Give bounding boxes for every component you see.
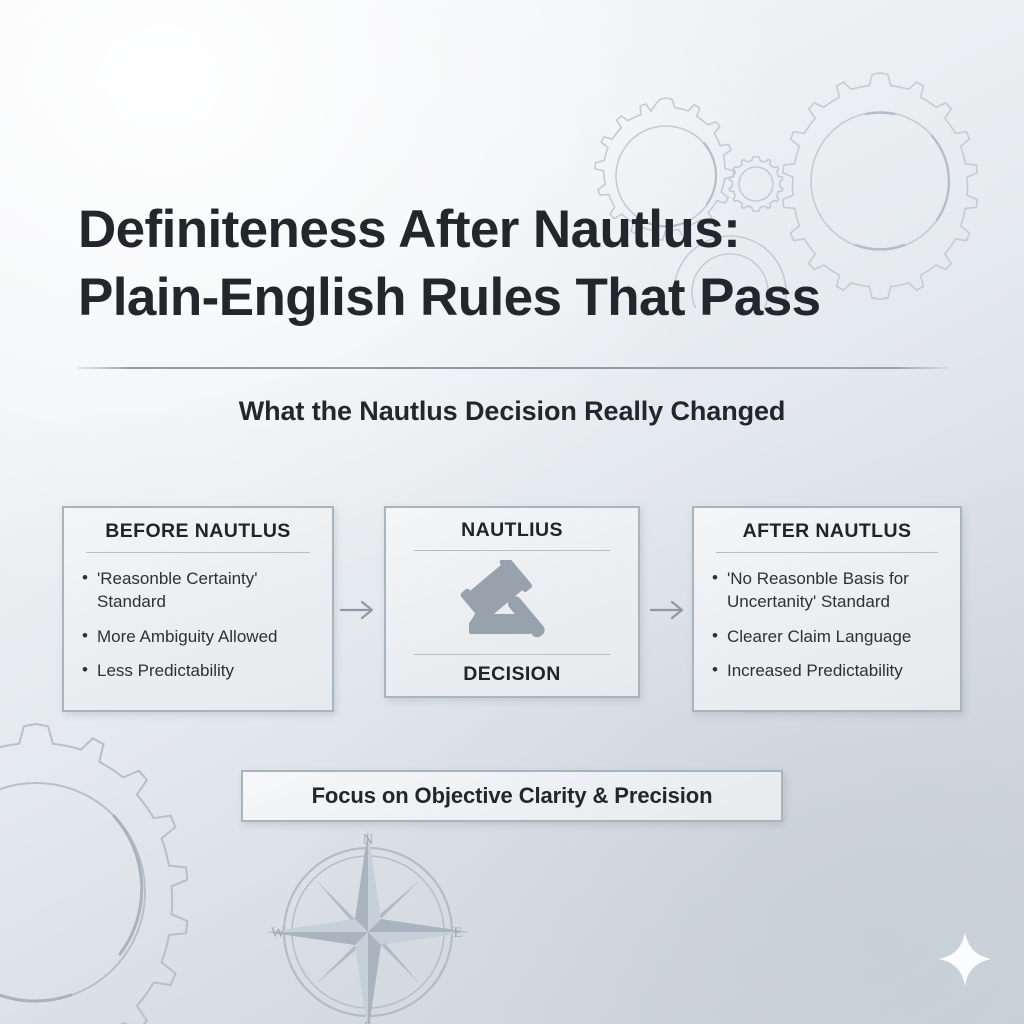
gear-outline-icon — [0, 724, 187, 1024]
compass-label-w: W — [271, 925, 286, 941]
card-nautlius-decision: NAUTLIUS — [384, 506, 640, 698]
list-item: Increased Predictability — [710, 659, 944, 682]
gavel-icon-wrapper — [400, 551, 624, 654]
arrow-right-icon — [648, 597, 690, 623]
card-after-title: AFTER NAUTLUS — [710, 520, 944, 543]
arrow-right-icon — [338, 597, 380, 623]
compass-label-n: N — [363, 832, 374, 848]
compass-label-s: S — [364, 1019, 372, 1024]
card-before-bullet-list: 'Reasonble Certainty' Standard More Ambi… — [80, 567, 316, 683]
list-item: 'No Reasonble Basis for Uncertanity' Sta… — [710, 567, 944, 614]
compass-label-e: E — [453, 925, 462, 941]
infographic-poster: N E S W Definiteness After Nautlus: Plai… — [0, 0, 1024, 1024]
card-after-bullet-list: 'No Reasonble Basis for Uncertanity' Sta… — [710, 567, 944, 683]
list-item: More Ambiguity Allowed — [80, 625, 316, 648]
card-before-nautlus: BEFORE NAUTLUS 'Reasonble Certainty' Sta… — [62, 506, 334, 712]
list-item: Less Predictability — [80, 659, 316, 682]
gear-outline-bottom-left — [0, 690, 304, 1024]
sparkle-icon — [936, 930, 994, 988]
card-before-separator — [86, 552, 310, 553]
focus-banner-text: Focus on Objective Clarity & Precision — [312, 783, 713, 809]
title-divider — [77, 367, 948, 369]
poster-subtitle: What the Nautlus Decision Really Changed — [0, 396, 1024, 427]
list-item: 'Reasonble Certainty' Standard — [80, 567, 316, 614]
card-decision-title-bottom: DECISION — [400, 655, 624, 696]
focus-banner: Focus on Objective Clarity & Precision — [241, 770, 783, 822]
card-after-nautlus: AFTER NAUTLUS 'No Reasonble Basis for Un… — [692, 506, 962, 712]
list-item: Clearer Claim Language — [710, 625, 944, 648]
card-before-title: BEFORE NAUTLUS — [80, 520, 316, 543]
title-line-1: Definiteness After Nautlus: — [78, 196, 958, 264]
card-after-separator — [716, 552, 938, 553]
poster-title: Definiteness After Nautlus: Plain-Englis… — [78, 196, 958, 332]
compass-rose-icon: N E S W — [246, 826, 490, 1024]
title-line-2: Plain-English Rules That Pass — [78, 264, 958, 332]
gavel-icon — [451, 560, 573, 646]
card-decision-title-top: NAUTLIUS — [400, 519, 624, 542]
